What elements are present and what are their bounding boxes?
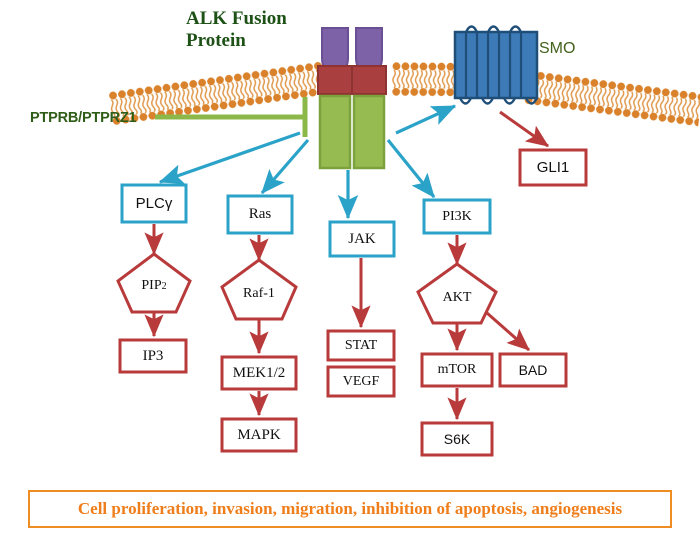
node-label-s6k: S6K <box>422 423 492 455</box>
node-label-vegf: VEGF <box>328 367 394 396</box>
arrow-akt-bad <box>487 313 529 350</box>
node-label-ip3: IP3 <box>120 340 186 372</box>
node-label-jak: JAK <box>330 222 394 256</box>
node-label-akt: AKT <box>418 278 496 318</box>
node-label-ras: Ras <box>228 196 292 233</box>
node-label-raf1: Raf-1 <box>222 274 296 314</box>
receptor-tm-left <box>318 66 352 94</box>
node-label-mapk: MAPK <box>222 419 296 451</box>
arrow-receptor-ras <box>262 140 308 193</box>
receptor-icd-right <box>354 96 384 168</box>
pathway-diagram: ALK Fusion Protein SMO PTPRB/PTPRZ1 PLCγ… <box>0 0 700 541</box>
node-label-stat: STAT <box>328 331 394 360</box>
alk-fusion-protein-title: ALK Fusion Protein <box>186 8 336 52</box>
smo-receptor <box>455 27 537 104</box>
arrow-smo-gli1 <box>500 112 548 146</box>
node-label-pip2: PIP2 <box>118 266 190 306</box>
arrow-receptor-pi3k <box>388 140 434 197</box>
alk-title-line1: ALK Fusion <box>186 8 336 30</box>
node-label-bad: BAD <box>500 354 566 386</box>
outcome-banner: Cell proliferation, invasion, migration,… <box>28 490 672 528</box>
receptor-tm-right <box>352 66 386 94</box>
smo-label: SMO <box>539 40 575 58</box>
alk-title-line2: Protein <box>186 30 336 52</box>
node-label-plcg: PLCγ <box>122 185 186 222</box>
arrow-receptor-smo <box>396 106 455 133</box>
pathway-canvas <box>0 0 700 541</box>
node-label-gli1: GLI1 <box>520 150 586 185</box>
node-label-mtor: mTOR <box>422 354 492 386</box>
receptor-icd-left <box>320 96 350 168</box>
node-label-pi3k: PI3K <box>424 200 490 233</box>
outcome-banner-text: Cell proliferation, invasion, migration,… <box>78 499 622 519</box>
node-label-mek: MEK1/2 <box>222 357 296 389</box>
ptprb-ptprz1-label: PTPRB/PTPRZ1 <box>30 110 136 126</box>
